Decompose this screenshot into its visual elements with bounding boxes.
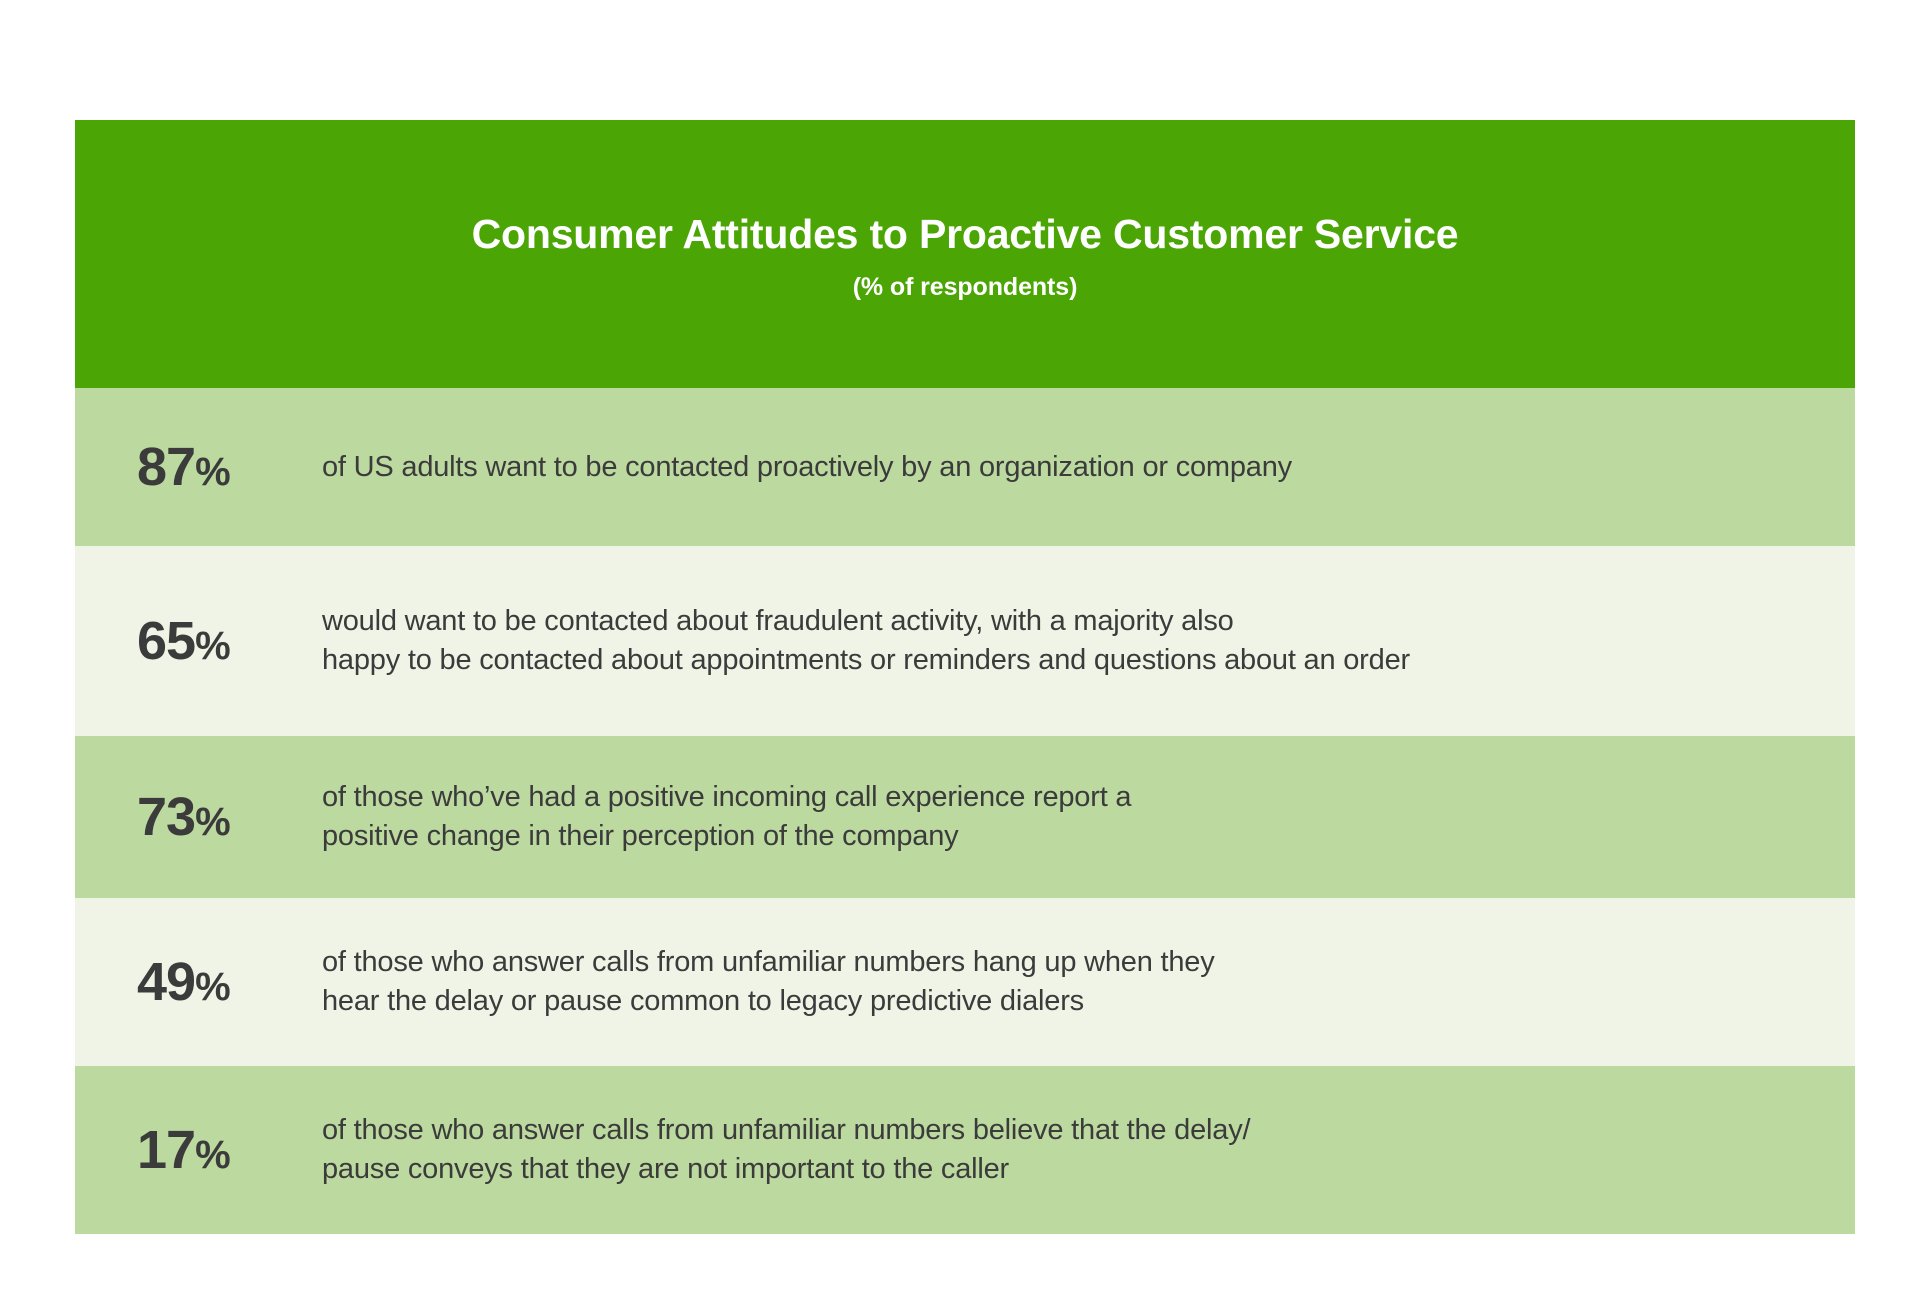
stat-value: 49	[137, 952, 195, 1012]
page-title: Consumer Attitudes to Proactive Customer…	[75, 212, 1855, 257]
table-row: 87% of US adults want to be contacted pr…	[75, 388, 1855, 546]
stat-description-line: of US adults want to be contacted proact…	[322, 448, 1825, 487]
table-row: 17% of those who answer calls from unfam…	[75, 1066, 1855, 1234]
page-subtitle: (% of respondents)	[75, 257, 1855, 302]
stat-description-line: of those who answer calls from unfamilia…	[322, 1111, 1825, 1150]
percent-symbol: %	[195, 450, 230, 494]
stat-description: of US adults want to be contacted proact…	[322, 448, 1825, 487]
stat-percentage: 49%	[137, 955, 322, 1009]
stat-description: would want to be contacted about fraudul…	[322, 602, 1825, 679]
stat-card: Consumer Attitudes to Proactive Customer…	[75, 120, 1855, 1234]
stat-description-line: of those who’ve had a positive incoming …	[322, 778, 1825, 817]
stat-rows: 87% of US adults want to be contacted pr…	[75, 388, 1855, 1234]
table-row: 49% of those who answer calls from unfam…	[75, 898, 1855, 1066]
table-row: 73% of those who’ve had a positive incom…	[75, 736, 1855, 898]
card-header: Consumer Attitudes to Proactive Customer…	[75, 120, 1855, 388]
stat-description-line: hear the delay or pause common to legacy…	[322, 982, 1825, 1021]
stat-percentage: 73%	[137, 790, 322, 844]
percent-symbol: %	[195, 965, 230, 1009]
stat-percentage: 65%	[137, 614, 322, 668]
stat-value: 73	[137, 787, 195, 847]
infographic-canvas: Consumer Attitudes to Proactive Customer…	[0, 0, 1920, 1293]
stat-percentage: 87%	[137, 440, 322, 494]
stat-description-line: pause conveys that they are not importan…	[322, 1150, 1825, 1189]
stat-description: of those who’ve had a positive incoming …	[322, 778, 1825, 855]
stat-description: of those who answer calls from unfamilia…	[322, 943, 1825, 1020]
percent-symbol: %	[195, 800, 230, 844]
stat-description-line: of those who answer calls from unfamilia…	[322, 943, 1825, 982]
stat-description-line: positive change in their perception of t…	[322, 817, 1825, 856]
table-row: 65% would want to be contacted about fra…	[75, 546, 1855, 736]
stat-description-line: would want to be contacted about fraudul…	[322, 602, 1825, 641]
stat-value: 17	[137, 1120, 195, 1180]
percent-symbol: %	[195, 1133, 230, 1177]
percent-symbol: %	[195, 624, 230, 668]
stat-value: 65	[137, 611, 195, 671]
stat-description: of those who answer calls from unfamilia…	[322, 1111, 1825, 1188]
stat-percentage: 17%	[137, 1123, 322, 1177]
stat-value: 87	[137, 437, 195, 497]
stat-description-line: happy to be contacted about appointments…	[322, 641, 1825, 680]
